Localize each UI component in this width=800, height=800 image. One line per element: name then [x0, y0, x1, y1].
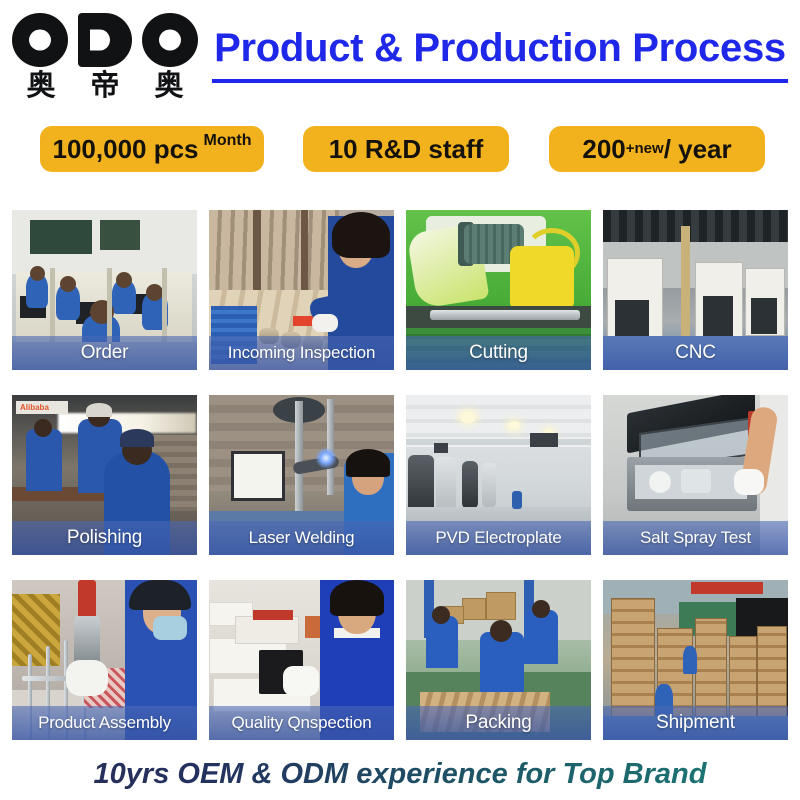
process-label-laser-welding: Laser Welding — [209, 521, 394, 555]
badge-capacity-value: 100,000 pcs — [53, 134, 199, 165]
logo-chinese-char-3: 奥 — [140, 70, 198, 100]
process-label-shipment: Shipment — [603, 706, 788, 740]
alibaba-watermark: Alibaba — [20, 402, 66, 413]
logo-chinese-char-1: 奥 — [12, 70, 70, 100]
logo-chinese-name: 奥 帝 奥 — [12, 70, 198, 104]
process-cell-salt-spray-test[interactable]: Salt Spray Test — [603, 395, 788, 555]
process-cell-shipment[interactable]: Shipment — [603, 580, 788, 740]
company-logo: 奥 帝 奥 — [12, 12, 198, 104]
process-cell-polishing[interactable]: Alibaba Polishing — [12, 395, 197, 555]
badge-rd-staff: 10 R&D staff — [303, 126, 509, 172]
process-label-salt-spray-test: Salt Spray Test — [603, 521, 788, 555]
badge-capacity: 100,000 pcsMonth — [40, 126, 264, 172]
process-label-incoming-inspection: Incoming Inspection — [209, 336, 394, 370]
process-label-cnc: CNC — [603, 336, 788, 370]
logo-letter-o-left — [12, 13, 68, 67]
footer-tagline: 10yrs OEM & ODM experience for Top Brand — [0, 752, 800, 796]
stats-badge-row: 100,000 pcsMonth 10 R&D staff 200+new / … — [0, 126, 800, 184]
process-label-cutting: Cutting — [406, 336, 591, 370]
badge-capacity-unit: Month — [204, 132, 252, 150]
badge-new-products-period: / year — [664, 134, 732, 165]
process-label-packing: Packing — [406, 706, 591, 740]
process-cell-order[interactable]: Order — [12, 210, 197, 370]
process-cell-pvd-electroplate[interactable]: PVD Electroplate — [406, 395, 591, 555]
process-cell-packing[interactable]: Packing — [406, 580, 591, 740]
logo-letters — [12, 12, 198, 68]
page-title: Product & Production Process — [212, 20, 788, 76]
logo-letter-d — [78, 13, 132, 67]
process-cell-cutting[interactable]: Cutting — [406, 210, 591, 370]
logo-chinese-char-2: 帝 — [76, 70, 134, 100]
process-label-polishing: Polishing — [12, 521, 197, 555]
process-label-order: Order — [12, 336, 197, 370]
process-cell-incoming-inspection[interactable]: Incoming Inspection — [209, 210, 394, 370]
title-underline — [212, 79, 788, 83]
process-cell-laser-welding[interactable]: Laser Welding — [209, 395, 394, 555]
badge-rd-staff-value: 10 R&D staff — [329, 134, 484, 165]
process-cell-quality-inspection[interactable]: Quality Qnspection — [209, 580, 394, 740]
process-cell-cnc[interactable]: CNC — [603, 210, 788, 370]
process-label-pvd-electroplate: PVD Electroplate — [406, 521, 591, 555]
process-grid: Order Incoming Inspection — [12, 210, 788, 740]
process-label-product-assembly: Product Assembly — [12, 706, 197, 740]
poster-canvas: 奥 帝 奥 Product & Production Process 100,0… — [0, 0, 800, 800]
badge-new-products-value: 200 — [582, 134, 625, 165]
badge-new-products: 200+new / year — [549, 126, 765, 172]
logo-letter-o-right — [142, 13, 198, 67]
poster-header: 奥 帝 奥 Product & Production Process — [0, 0, 800, 112]
process-cell-product-assembly[interactable]: Product Assembly — [12, 580, 197, 740]
process-label-quality-inspection: Quality Qnspection — [209, 706, 394, 740]
